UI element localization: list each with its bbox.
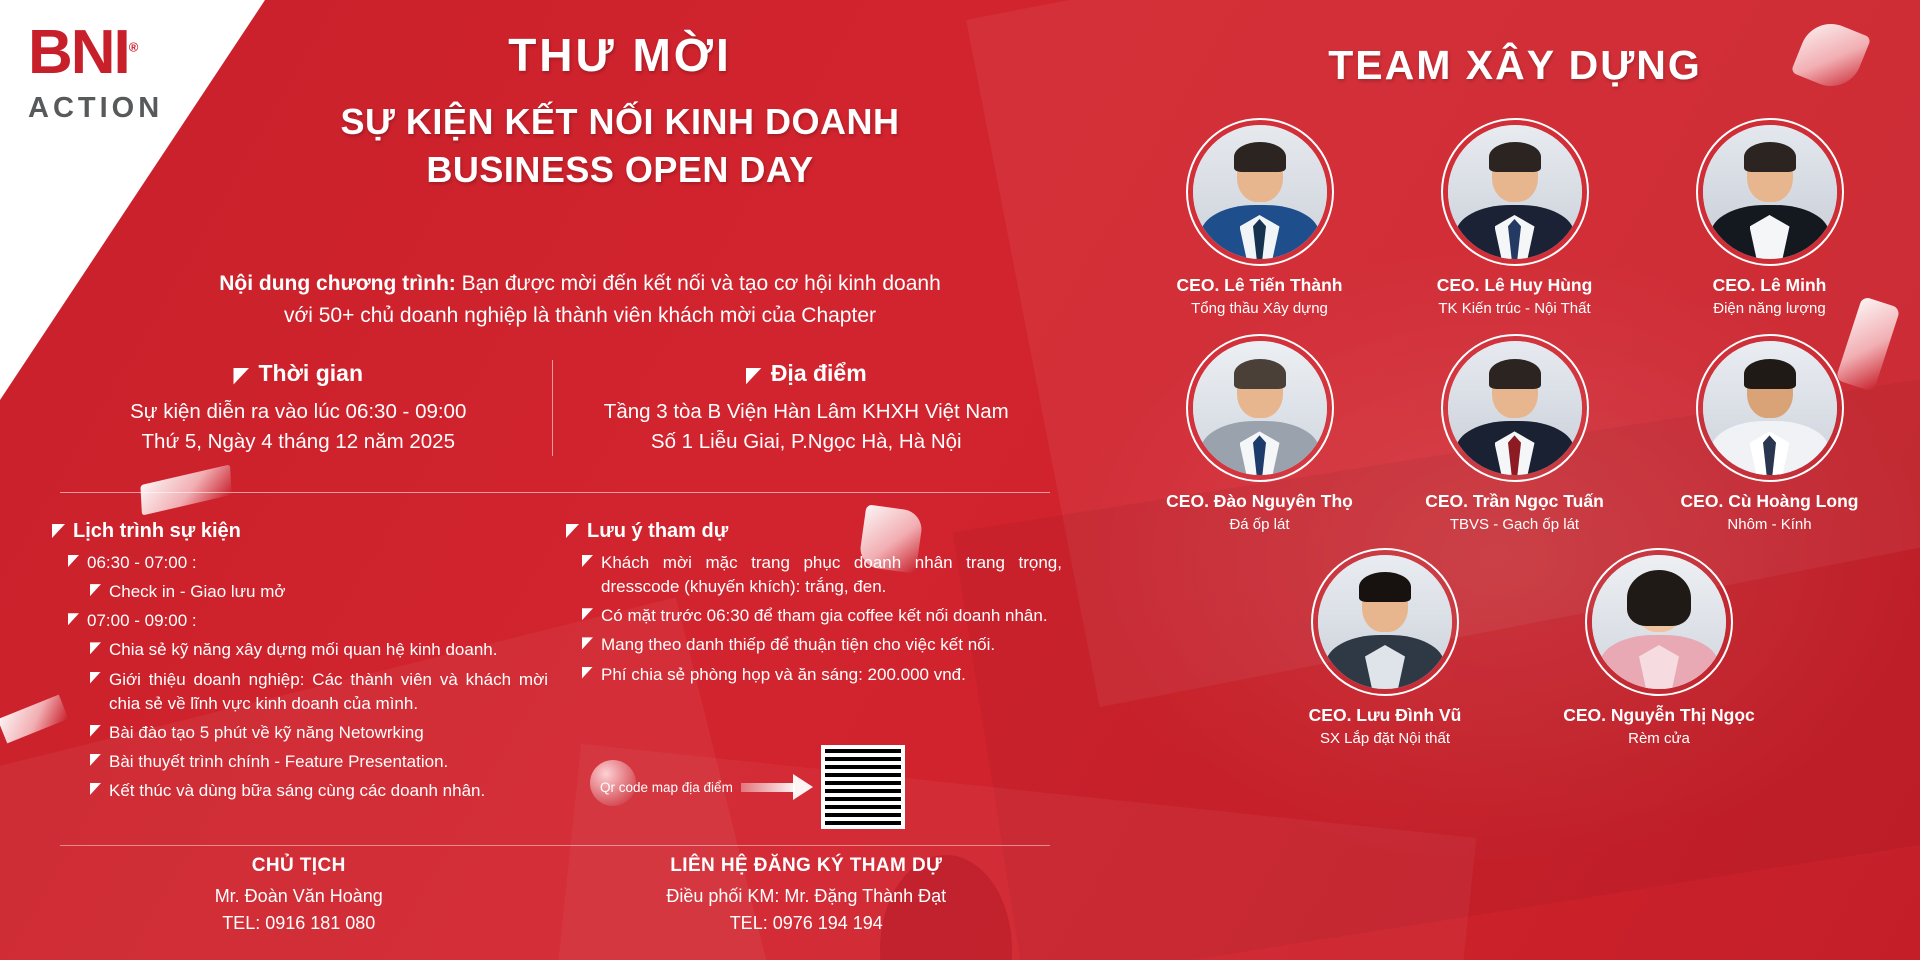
avatar <box>1448 125 1582 259</box>
team-member: CEO. Lê Huy Hùng TK Kiến trúc - Nội Thất <box>1387 118 1642 318</box>
qr-code-image[interactable] <box>821 745 905 829</box>
member-name: CEO. Nguyễn Thị Ngọc <box>1536 705 1782 727</box>
flag-bullet-icon <box>233 368 249 385</box>
schedule-block-time: 06:30 - 07:00 : <box>68 551 548 575</box>
avatar-ring <box>1186 334 1334 482</box>
schedule-item-1-1: Giới thiệu doanh nghiệp: Các thành viên … <box>109 668 548 716</box>
avatar-ring <box>1311 548 1459 696</box>
schedule-item-1-0: Chia sẻ kỹ năng xây dựng mối quan hệ kin… <box>109 638 497 662</box>
place-block: Địa điểm Tầng 3 tòa B Viện Hàn Lâm KHXH … <box>553 360 1061 456</box>
schedule-heading: Lịch trình sự kiện <box>73 520 241 543</box>
member-role: TK Kiến trúc - Nội Thất <box>1387 299 1642 319</box>
time-heading-row: Thời gian <box>57 360 540 387</box>
schedule-sublist-0: Check in - Giao lưu mở <box>90 580 548 604</box>
member-role: Đá ốp lát <box>1132 515 1387 535</box>
schedule-column: Lịch trình sự kiện 06:30 - 07:00 : Check… <box>52 520 548 808</box>
avatar-ring <box>1186 118 1334 266</box>
program-intro-text: Bạn được mời đến kết nối và tạo cơ hội k… <box>456 272 941 295</box>
registration-phone[interactable]: TEL: 0976 194 194 <box>553 910 1061 937</box>
schedule-item: Chia sẻ kỹ năng xây dựng mối quan hệ kin… <box>90 638 548 662</box>
avatar <box>1703 125 1837 259</box>
flag-bullet-icon <box>90 642 101 654</box>
schedule-item: Kết thúc và dùng bữa sáng cùng các doanh… <box>90 779 548 803</box>
team-member: CEO. Nguyễn Thị Ngọc Rèm cửa <box>1536 548 1782 748</box>
notes-heading: Lưu ý tham dự <box>587 520 728 543</box>
avatar <box>1703 341 1837 475</box>
member-name: CEO. Lê Tiến Thành <box>1132 275 1387 297</box>
president-phone[interactable]: TEL: 0916 181 080 <box>45 910 553 937</box>
note-item: Khách mời mặc trang phục doanh nhân tran… <box>582 551 1062 599</box>
place-heading: Địa điểm <box>771 360 867 387</box>
time-heading: Thời gian <box>258 360 363 387</box>
note-item-1: Có mặt trước 06:30 để tham gia coffee kế… <box>601 604 1048 628</box>
avatar <box>1318 555 1452 689</box>
flag-bullet-icon <box>68 613 79 625</box>
avatar-ring <box>1441 334 1589 482</box>
member-name: CEO. Đào Nguyên Thọ <box>1132 491 1387 513</box>
note-item: Mang theo danh thiếp để thuận tiện cho v… <box>582 633 1062 657</box>
note-item: Có mặt trước 06:30 để tham gia coffee kế… <box>582 604 1062 628</box>
president-heading: CHỦ TỊCH <box>45 855 553 877</box>
member-role: Tổng thầu Xây dựng <box>1132 299 1387 319</box>
section-divider <box>60 492 1050 493</box>
flag-bullet-icon <box>582 608 593 620</box>
qr-code-block[interactable]: Qr code map địa điểm <box>600 745 905 829</box>
flag-bullet-icon <box>90 783 101 795</box>
team-member: CEO. Đào Nguyên Thọ Đá ốp lát <box>1132 334 1387 534</box>
flag-bullet-icon <box>52 524 65 538</box>
avatar <box>1448 341 1582 475</box>
schedule-item: Giới thiệu doanh nghiệp: Các thành viên … <box>90 668 548 716</box>
member-name: CEO. Lê Minh <box>1642 275 1897 297</box>
program-intro-line-1: Nội dung chương trình: Bạn được mời đến … <box>130 268 1030 300</box>
team-panel: TEAM XÂY DỰNG CEO. Lê Tiến Thành Tổng th… <box>1110 0 1920 960</box>
team-member: CEO. Trần Ngọc Tuấn TBVS - Gạch ốp lát <box>1387 334 1642 534</box>
arrow-right-icon <box>741 774 813 800</box>
footer-president: CHỦ TỊCH Mr. Đoàn Văn Hoàng TEL: 0916 18… <box>45 855 553 937</box>
place-line-1: Tầng 3 tòa B Viện Hàn Lâm KHXH Việt Nam <box>565 397 1049 427</box>
team-member-grid-bottom: CEO. Lưu Đình Vũ SX Lắp đặt Nội thất CEO… <box>1262 548 1782 764</box>
place-line-2: Số 1 Liễu Giai, P.Ngọc Hà, Hà Nội <box>565 427 1049 457</box>
schedule-block-list: 06:30 - 07:00 : Check in - Giao lưu mở 0… <box>68 551 548 803</box>
footer-divider <box>60 845 1050 846</box>
schedule-heading-row: Lịch trình sự kiện <box>52 520 548 543</box>
flag-bullet-icon <box>90 725 101 737</box>
flag-bullet-icon <box>68 555 79 567</box>
member-name: CEO. Trần Ngọc Tuấn <box>1387 491 1642 513</box>
avatar <box>1592 555 1726 689</box>
time-block: Thời gian Sự kiện diễn ra vào lúc 06:30 … <box>45 360 553 456</box>
member-role: SX Lắp đặt Nội thất <box>1262 729 1508 749</box>
schedule-time-1: 07:00 - 09:00 : <box>87 609 197 633</box>
program-intro-line-2: với 50+ chủ doanh nghiệp là thành viên k… <box>130 300 1030 332</box>
member-name: CEO. Lê Huy Hùng <box>1387 275 1642 297</box>
place-heading-row: Địa điểm <box>565 360 1049 387</box>
member-role: Điện năng lượng <box>1642 299 1897 319</box>
notes-list: Khách mời mặc trang phục doanh nhân tran… <box>582 551 1062 687</box>
avatar <box>1193 341 1327 475</box>
notes-heading-row: Lưu ý tham dự <box>566 520 1062 543</box>
note-item-2: Mang theo danh thiếp để thuận tiện cho v… <box>601 633 995 657</box>
member-name: CEO. Cù Hoàng Long <box>1642 491 1897 513</box>
schedule-time-0: 06:30 - 07:00 : <box>87 551 197 575</box>
invitation-label: THƯ MỜI <box>270 28 970 82</box>
avatar-ring <box>1441 118 1589 266</box>
event-title-line-1: SỰ KIỆN KẾT NỐI KINH DOANH <box>200 98 1040 146</box>
team-title: TEAM XÂY DỰNG <box>1110 42 1920 89</box>
member-name: CEO. Lưu Đình Vũ <box>1262 705 1508 727</box>
flag-bullet-icon <box>582 555 593 567</box>
president-name: Mr. Đoàn Văn Hoàng <box>45 883 553 910</box>
flag-bullet-icon <box>582 637 593 649</box>
schedule-sublist-1: Chia sẻ kỹ năng xây dựng mối quan hệ kin… <box>90 638 548 803</box>
footer-registration: LIÊN HỆ ĐĂNG KÝ THAM DỰ Điều phối KM: Mr… <box>553 855 1061 937</box>
schedule-item-0-0: Check in - Giao lưu mở <box>109 580 286 604</box>
qr-caption: Qr code map địa điểm <box>600 780 733 795</box>
flag-bullet-icon <box>582 667 593 679</box>
event-invitation-poster: BNI® ACTION THƯ MỜI SỰ KIỆN KẾT NỐI KINH… <box>0 0 1920 960</box>
team-member: CEO. Lưu Đình Vũ SX Lắp đặt Nội thất <box>1262 548 1508 748</box>
schedule-item-1-2: Bài đào tạo 5 phút về kỹ năng Netowrking <box>109 721 424 745</box>
time-line-1: Sự kiện diễn ra vào lúc 06:30 - 09:00 <box>57 397 540 427</box>
main-content-column: THƯ MỜI SỰ KIỆN KẾT NỐI KINH DOANH BUSIN… <box>0 0 1110 960</box>
flag-bullet-icon <box>566 524 579 538</box>
avatar-ring <box>1696 334 1844 482</box>
program-intro-label: Nội dung chương trình: <box>219 272 456 295</box>
schedule-item-1-3: Bài thuyết trình chính - Feature Present… <box>109 750 448 774</box>
team-member: CEO. Cù Hoàng Long Nhôm - Kính <box>1642 334 1897 534</box>
footer-contacts: CHỦ TỊCH Mr. Đoàn Văn Hoàng TEL: 0916 18… <box>45 855 1060 937</box>
avatar-ring <box>1696 118 1844 266</box>
member-role: TBVS - Gạch ốp lát <box>1387 515 1642 535</box>
registration-heading: LIÊN HỆ ĐĂNG KÝ THAM DỰ <box>553 855 1061 877</box>
team-member-grid: CEO. Lê Tiến Thành Tổng thầu Xây dựng CE… <box>1132 118 1898 551</box>
team-member: CEO. Lê Tiến Thành Tổng thầu Xây dựng <box>1132 118 1387 318</box>
flag-bullet-icon <box>90 672 101 684</box>
schedule-item: Bài thuyết trình chính - Feature Present… <box>90 750 548 774</box>
note-item: Phí chia sẻ phòng họp và ăn sáng: 200.00… <box>582 663 1062 687</box>
registration-name: Điều phối KM: Mr. Đặng Thành Đạt <box>553 883 1061 910</box>
schedule-item: Check in - Giao lưu mở <box>90 580 548 604</box>
member-role: Nhôm - Kính <box>1642 515 1897 535</box>
flag-bullet-icon <box>90 754 101 766</box>
flag-bullet-icon <box>90 584 101 596</box>
schedule-item: Bài đào tạo 5 phút về kỹ năng Netowrking <box>90 721 548 745</box>
avatar <box>1193 125 1327 259</box>
event-title-line-2: BUSINESS OPEN DAY <box>200 146 1040 194</box>
note-item-3: Phí chia sẻ phòng họp và ăn sáng: 200.00… <box>601 663 966 687</box>
member-role: Rèm cửa <box>1536 729 1782 749</box>
event-title: SỰ KIỆN KẾT NỐI KINH DOANH BUSINESS OPEN… <box>200 98 1040 194</box>
flag-bullet-icon <box>746 368 762 385</box>
details-columns: Lịch trình sự kiện 06:30 - 07:00 : Check… <box>52 520 1062 808</box>
schedule-block-time: 07:00 - 09:00 : <box>68 609 548 633</box>
team-member: CEO. Lê Minh Điện năng lượng <box>1642 118 1897 318</box>
schedule-item-1-4: Kết thúc và dùng bữa sáng cùng các doanh… <box>109 779 485 803</box>
program-intro: Nội dung chương trình: Bạn được mời đến … <box>130 268 1030 331</box>
time-place-row: Thời gian Sự kiện diễn ra vào lúc 06:30 … <box>45 360 1060 456</box>
time-line-2: Thứ 5, Ngày 4 tháng 12 năm 2025 <box>57 427 540 457</box>
avatar-ring <box>1585 548 1733 696</box>
note-item-0: Khách mời mặc trang phục doanh nhân tran… <box>601 551 1062 599</box>
